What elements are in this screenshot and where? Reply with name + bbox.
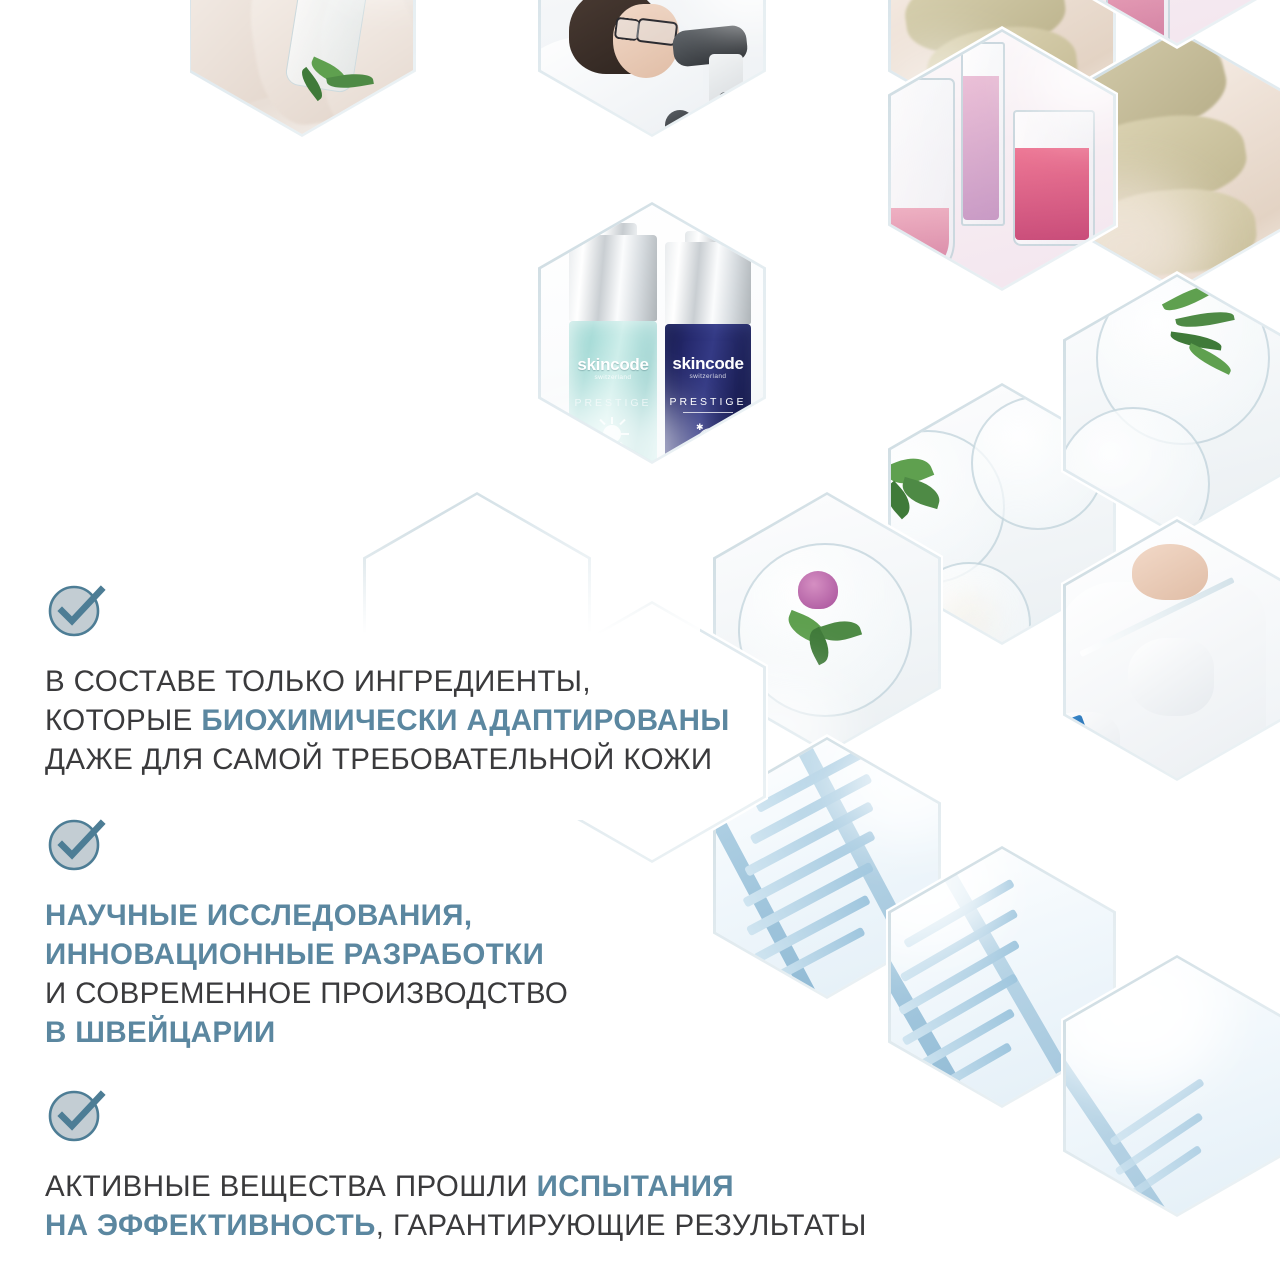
bullet-ingredients: В СОСТАВЕ ТОЛЬКО ИНГРЕДИЕНТЫ,КОТОРЫЕ БИО… [45, 578, 730, 779]
check-circle-icon [45, 1083, 107, 1145]
bullet-text: АКТИВНЫЕ ВЕЩЕСТВА ПРОШЛИ ИСПЫТАНИЯНА ЭФФ… [45, 1167, 867, 1245]
bullet-text: В СОСТАВЕ ТОЛЬКО ИНГРЕДИЕНТЫ,КОТОРЫЕ БИО… [45, 662, 730, 779]
poster-canvas: skincode switzerland PRESTIGE [0, 0, 1280, 1280]
bullet-research: НАУЧНЫЕ ИССЛЕДОВАНИЯ,ИННОВАЦИОННЫЕ РАЗРА… [45, 812, 568, 1052]
check-circle-icon [45, 578, 107, 640]
benefits-list: В СОСТАВЕ ТОЛЬКО ИНГРЕДИЕНТЫ,КОТОРЫЕ БИО… [0, 0, 1280, 1280]
bullet-text: НАУЧНЫЕ ИССЛЕДОВАНИЯ,ИННОВАЦИОННЫЕ РАЗРА… [45, 896, 568, 1052]
bullet-efficacy: АКТИВНЫЕ ВЕЩЕСТВА ПРОШЛИ ИСПЫТАНИЯНА ЭФФ… [45, 1083, 867, 1245]
check-circle-icon [45, 812, 107, 874]
